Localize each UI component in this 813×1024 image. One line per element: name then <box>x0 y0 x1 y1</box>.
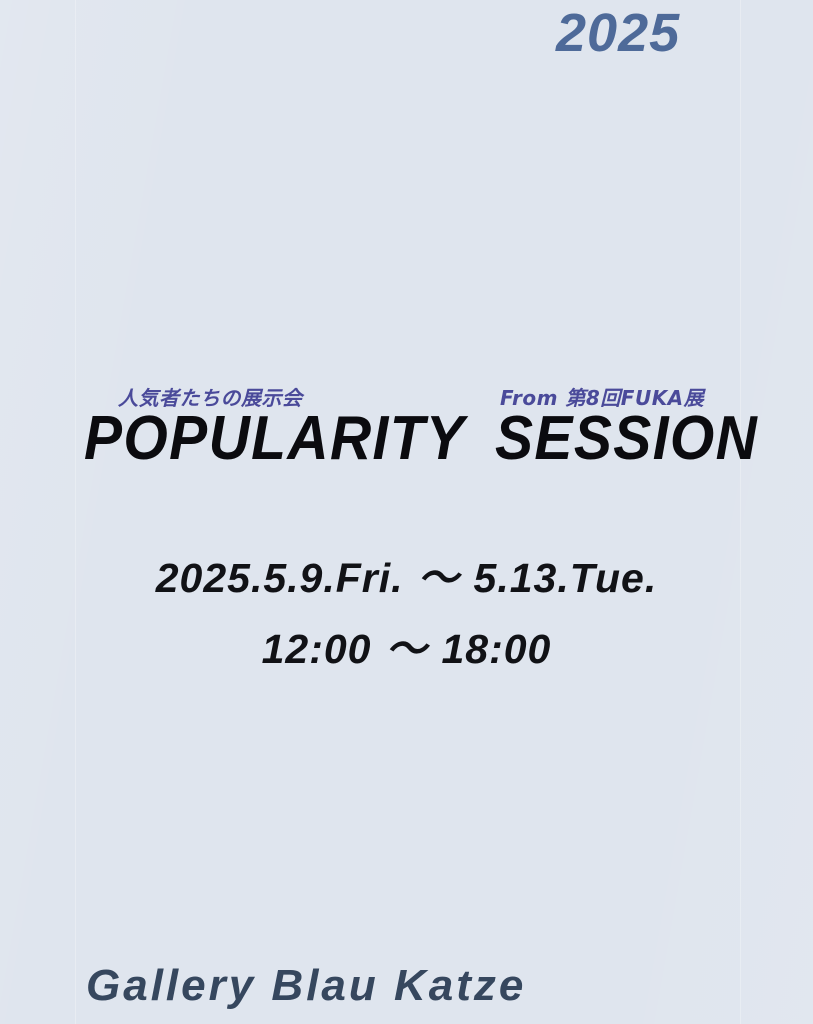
panel-seam-right <box>740 0 741 1024</box>
background-wash <box>0 0 813 1024</box>
time-range-separator: ～ <box>372 626 442 672</box>
exhibition-date-range: 2025.5.9.Fri.～5.13.Tue. <box>0 558 813 599</box>
time-start: 12:00 <box>262 626 372 672</box>
date-range-separator: ～ <box>404 555 474 601</box>
panel-seam-left <box>75 0 76 1024</box>
exhibition-poster: 2025 人気者たちの展示会 From 第8回FUKA展 POPULARITY … <box>0 0 813 1024</box>
venue-name: Gallery Blau Katze <box>86 964 526 1008</box>
year-label: 2025 <box>556 6 680 60</box>
date-start: 2025.5.9.Fri. <box>156 555 404 601</box>
headline-block: 人気者たちの展示会 From 第8回FUKA展 POPULARITY SESSI… <box>0 388 813 498</box>
schedule-block: 2025.5.9.Fri.～5.13.Tue. 12:00～18:00 <box>0 558 813 670</box>
title-word-session: SESSION <box>495 408 758 470</box>
time-end: 18:00 <box>442 626 552 672</box>
title-word-popularity: POPULARITY <box>84 408 465 470</box>
exhibition-time-range: 12:00～18:00 <box>0 629 813 670</box>
date-end: 5.13.Tue. <box>474 555 658 601</box>
